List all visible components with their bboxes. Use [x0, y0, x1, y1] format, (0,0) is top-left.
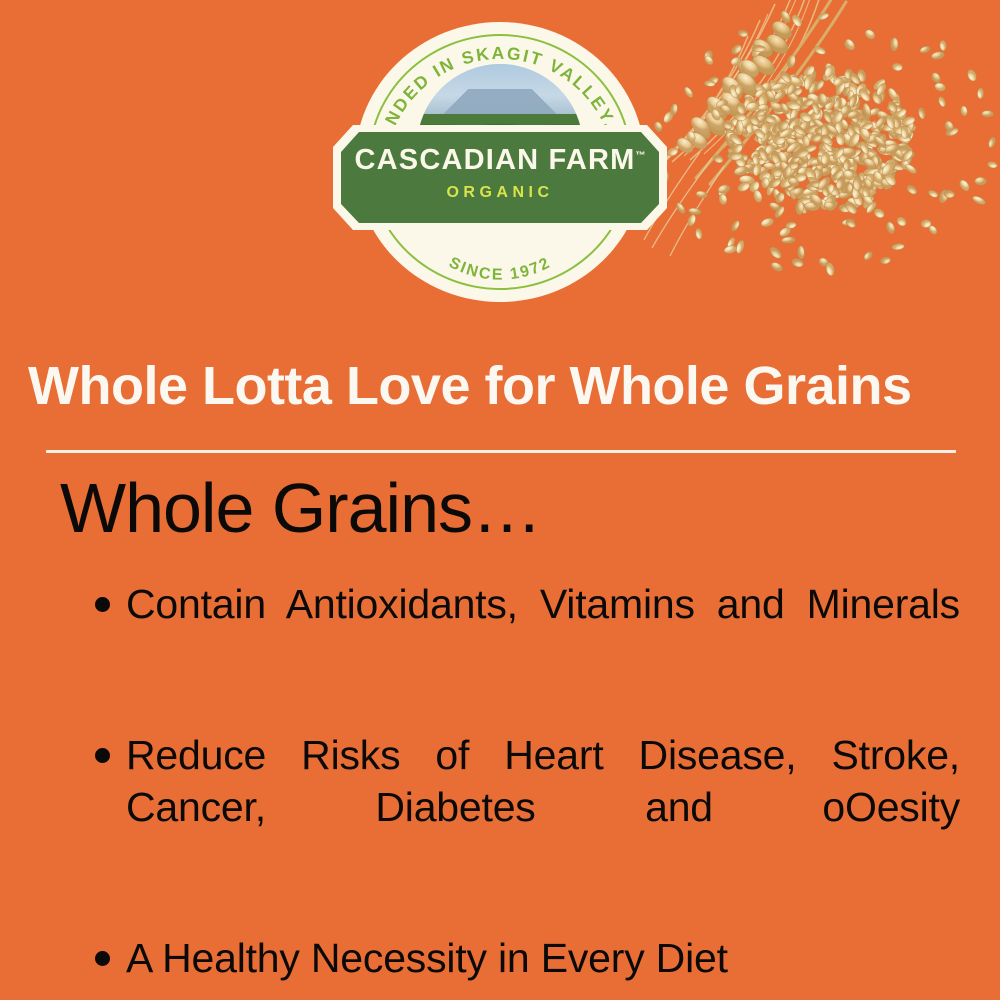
- benefits-list: Contain Antioxidants, Vitamins and Miner…: [88, 578, 960, 985]
- list-item: Reduce Risks of Heart Disease, Stroke, C…: [88, 729, 960, 886]
- hero-banner: FOUNDED IN SKAGIT VALLEY, WA SINCE 1972 …: [0, 0, 1000, 320]
- page-headline: Whole Lotta Love for Whole Grains: [28, 358, 972, 415]
- trademark-symbol: ™: [636, 150, 646, 161]
- section-title: Whole Grains…: [60, 473, 541, 543]
- cascadian-farm-logo: FOUNDED IN SKAGIT VALLEY, WA SINCE 1972 …: [355, 22, 645, 302]
- list-item-label: Contain Antioxidants, Vitamins and Miner…: [126, 581, 960, 679]
- arc-bottom-label: SINCE 1972: [446, 254, 554, 284]
- list-item: Contain Antioxidants, Vitamins and Miner…: [88, 578, 960, 683]
- bullet-dot-icon: [95, 951, 110, 966]
- list-item: A Healthy Necessity in Every Diet: [88, 932, 960, 984]
- brand-name-text: CASCADIAN FARM: [354, 144, 635, 176]
- list-item-label: Reduce Risks of Heart Disease, Stroke, C…: [126, 732, 960, 883]
- list-item-label: A Healthy Necessity in Every Diet: [126, 935, 728, 981]
- bullet-dot-icon: [95, 597, 110, 612]
- headline-divider: [46, 450, 956, 453]
- brand-sub-label: ORGANIC: [341, 184, 659, 202]
- brand-name: CASCADIAN FARM™: [341, 144, 659, 177]
- bullet-dot-icon: [95, 748, 110, 763]
